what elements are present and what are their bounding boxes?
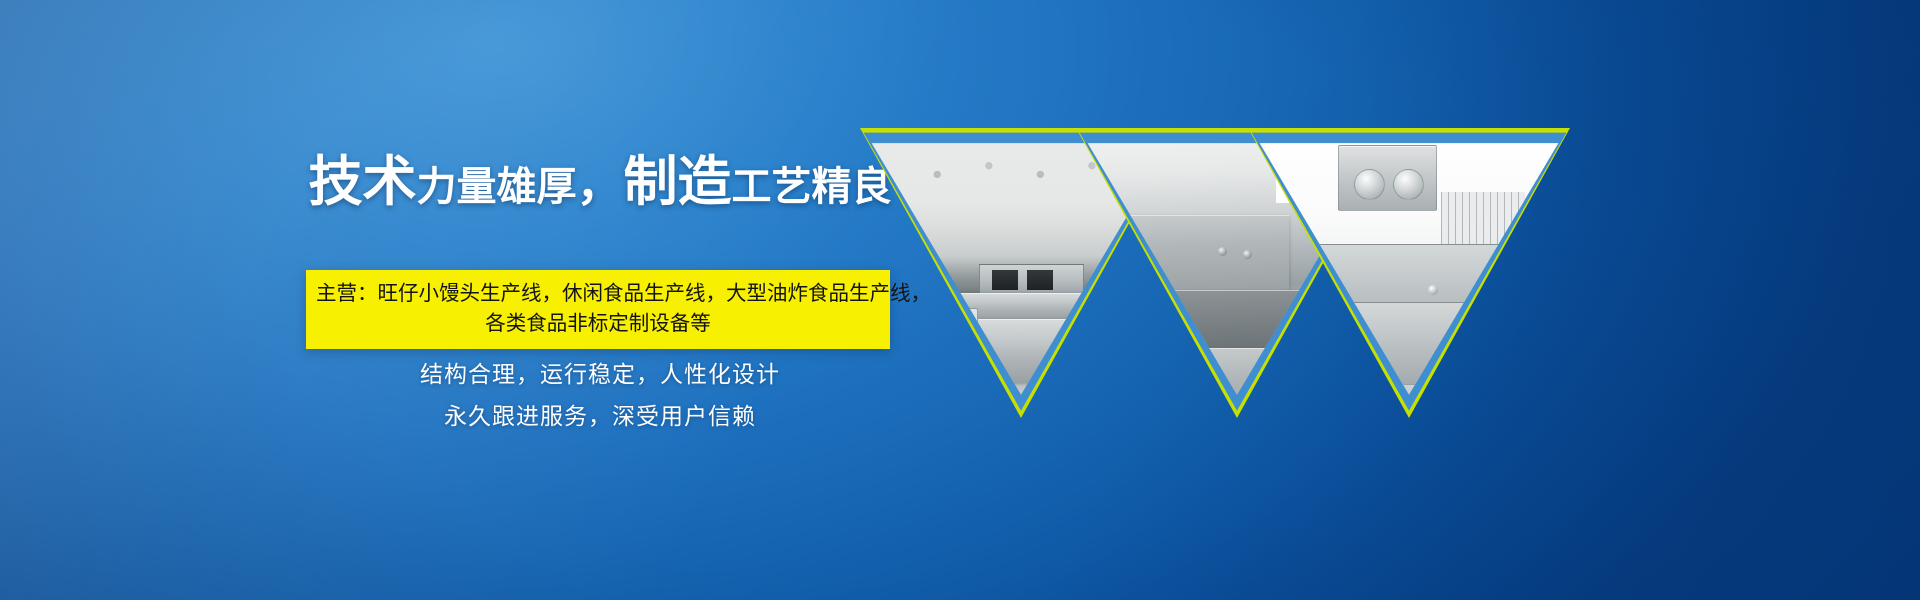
headline-part-1: 技术	[309, 152, 417, 212]
business-scope-line-2: 各类食品非标定制设备等	[316, 309, 880, 339]
business-scope-line-1: 主营：旺仔小馒头生产线，休闲食品生产线，大型油炸食品生产线，	[316, 279, 880, 309]
headline-part-2: 力量雄厚	[417, 165, 577, 209]
headline: 技术力量雄厚，制造工艺精良	[300, 155, 900, 209]
text-column: 技术力量雄厚，制造工艺精良 主营：旺仔小馒头生产线，休闲食品生产线，大型油炸食品…	[0, 0, 900, 600]
promo-banner: 技术力量雄厚，制造工艺精良 主营：旺仔小馒头生产线，休闲食品生产线，大型油炸食品…	[0, 0, 1920, 600]
business-scope-highlight: 主营：旺仔小馒头生产线，休闲食品生产线，大型油炸食品生产线， 各类食品非标定制设…	[306, 270, 890, 349]
triangle-photo-forming-machine-head[interactable]	[1248, 128, 1570, 418]
triangle-photo-clip	[1248, 128, 1570, 418]
subtitle-line-2: 永久跟进服务，深受用户信赖	[300, 397, 900, 431]
photo-forming-machine-head	[1248, 128, 1570, 418]
triangle-photo-cluster	[840, 100, 1580, 440]
headline-comma: ，	[577, 158, 624, 210]
subtitle-line-1: 结构合理，运行稳定，人性化设计	[300, 355, 900, 389]
headline-part-3: 制造	[624, 152, 732, 212]
